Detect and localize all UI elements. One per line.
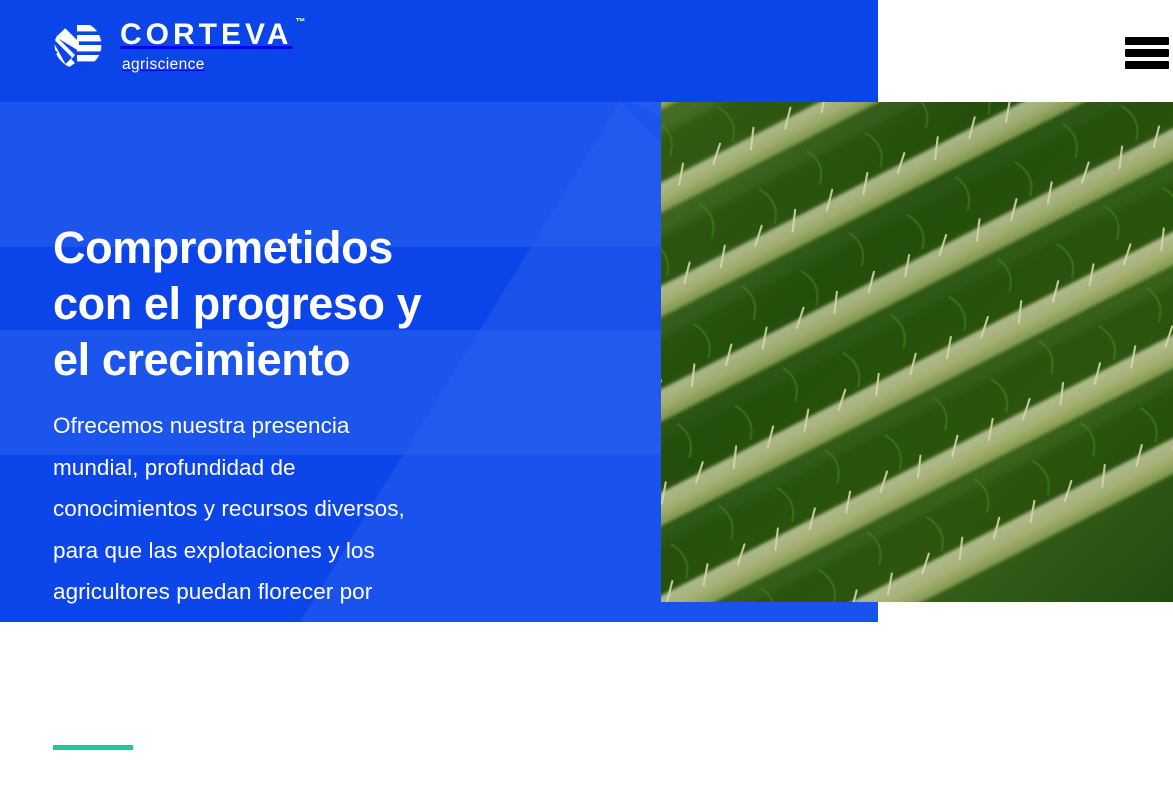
- brand-trademark-symbol: ™: [295, 18, 305, 28]
- hero-copy: Comprometidos con el progreso y el creci…: [53, 220, 573, 622]
- corn-field-rows-photo: [661, 102, 1173, 602]
- header-right-area: [878, 0, 1173, 102]
- menu-bar-middle: [1125, 49, 1169, 57]
- page-title: Comprometidos con el progreso y el creci…: [53, 220, 573, 388]
- corteva-circle-mark-icon: [53, 20, 103, 70]
- hero-description: Ofrecemos nuestra presencia mundial, pro…: [53, 405, 573, 622]
- brand-name: CORTEVA™: [120, 20, 292, 50]
- menu-bar-top: [1125, 37, 1169, 45]
- site-header: CORTEVA™ agriscience: [0, 0, 878, 102]
- brand-logo-link[interactable]: CORTEVA™ agriscience: [53, 18, 292, 73]
- brand-wordmark: CORTEVA™ agriscience: [120, 18, 292, 73]
- teal-accent-rule: [53, 745, 133, 750]
- page-root: CORTEVA™ agriscience Comprometidos con e…: [0, 0, 1173, 793]
- hamburger-menu-icon[interactable]: [1125, 37, 1169, 69]
- menu-bar-bottom: [1125, 61, 1169, 69]
- brand-tagline: agriscience: [122, 57, 292, 73]
